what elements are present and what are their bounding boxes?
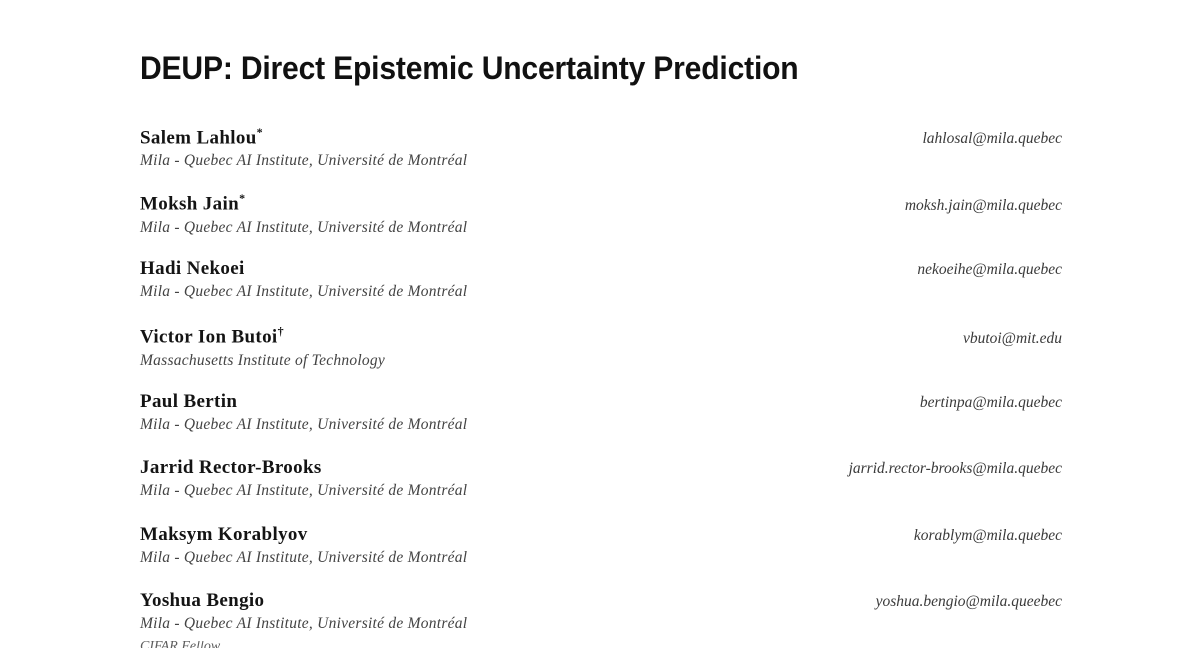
author-name-text: Maksym Korablyov xyxy=(140,524,308,545)
author-email[interactable]: lahlosal@mila.quebec xyxy=(922,130,1062,148)
author-row: Jarrid Rector-Brooksjarrid.rector-brooks… xyxy=(140,457,1062,479)
author-affiliation: Mila - Quebec AI Institute, Université d… xyxy=(140,416,1062,434)
author-block: Moksh Jain*moksh.jain@mila.quebecMila - … xyxy=(140,191,1062,258)
author-email[interactable]: nekoeihe@mila.quebec xyxy=(917,261,1062,279)
author-affiliation: Mila - Quebec AI Institute, Université d… xyxy=(140,152,1062,170)
author-footnote-marker: * xyxy=(257,125,263,139)
author-affiliation: Mila - Quebec AI Institute, Université d… xyxy=(140,283,1062,301)
author-email[interactable]: bertinpa@mila.quebec xyxy=(920,394,1062,412)
author-email[interactable]: jarrid.rector-brooks@mila.quebec xyxy=(849,460,1062,478)
paper-content: DEUP: Direct Epistemic Uncertainty Predi… xyxy=(140,0,1062,648)
author-row: Moksh Jain*moksh.jain@mila.quebec xyxy=(140,191,1062,215)
author-name-text: Salem Lahlou xyxy=(140,127,257,148)
author-footnote-marker: * xyxy=(239,191,245,205)
author-row: Victor Ion Butoi†vbutoi@mit.edu xyxy=(140,324,1062,348)
arxiv-vertical-stamp: [cs.LG] 3 Feb 2023 xyxy=(0,0,90,648)
author-name: Salem Lahlou* xyxy=(140,125,263,149)
author-block: Victor Ion Butoi†vbutoi@mit.eduMassachus… xyxy=(140,324,1062,391)
author-name: Yoshua Bengio xyxy=(140,590,264,612)
author-email[interactable]: vbutoi@mit.edu xyxy=(963,330,1062,348)
author-name: Jarrid Rector-Brooks xyxy=(140,457,322,479)
author-block: Salem Lahlou*lahlosal@mila.quebecMila - … xyxy=(140,125,1062,192)
author-email[interactable]: yoshua.bengio@mila.queebec xyxy=(876,593,1062,611)
author-affiliation: Massachusetts Institute of Technology xyxy=(140,352,1062,370)
author-name-text: Jarrid Rector-Brooks xyxy=(140,457,322,478)
author-name: Maksym Korablyov xyxy=(140,524,308,546)
author-name: Paul Bertin xyxy=(140,391,237,413)
paper-page: [cs.LG] 3 Feb 2023 DEUP: Direct Epistemi… xyxy=(0,0,1200,648)
author-affiliation: Mila - Quebec AI Institute, Université d… xyxy=(140,615,1062,633)
author-affiliation: Mila - Quebec AI Institute, Université d… xyxy=(140,549,1062,567)
author-email[interactable]: korablym@mila.quebec xyxy=(914,527,1062,545)
author-footnote-marker: † xyxy=(278,324,284,338)
author-block: Jarrid Rector-Brooksjarrid.rector-brooks… xyxy=(140,457,1062,524)
author-name-text: Paul Bertin xyxy=(140,391,237,412)
author-row: Salem Lahlou*lahlosal@mila.quebec xyxy=(140,125,1062,149)
author-row: Yoshua Bengioyoshua.bengio@mila.queebec xyxy=(140,590,1062,612)
author-block: Maksym Korablyovkorablym@mila.quebecMila… xyxy=(140,524,1062,591)
author-affiliation: Mila - Quebec AI Institute, Université d… xyxy=(140,482,1062,500)
author-row: Paul Bertinbertinpa@mila.quebec xyxy=(140,391,1062,413)
author-name: Victor Ion Butoi† xyxy=(140,324,284,348)
author-row: Maksym Korablyovkorablym@mila.quebec xyxy=(140,524,1062,546)
author-name-text: Hadi Nekoei xyxy=(140,258,245,279)
author-email[interactable]: moksh.jain@mila.quebec xyxy=(905,197,1062,215)
author-block: Yoshua Bengioyoshua.bengio@mila.queebecM… xyxy=(140,590,1062,648)
footnote-partial-line: CIFAR Fellow xyxy=(140,641,660,648)
page-title: DEUP: Direct Epistemic Uncertainty Predi… xyxy=(140,0,1007,87)
author-affiliation: Mila - Quebec AI Institute, Université d… xyxy=(140,219,1062,237)
author-name-text: Victor Ion Butoi xyxy=(140,327,278,348)
author-name-text: Moksh Jain xyxy=(140,194,239,215)
author-block: Hadi Nekoeinekoeihe@mila.quebecMila - Qu… xyxy=(140,258,1062,325)
author-name-text: Yoshua Bengio xyxy=(140,590,264,611)
author-block: Paul Bertinbertinpa@mila.quebecMila - Qu… xyxy=(140,391,1062,458)
author-name: Moksh Jain* xyxy=(140,191,245,215)
author-row: Hadi Nekoeinekoeihe@mila.quebec xyxy=(140,258,1062,280)
footnote-text: CIFAR Fellow xyxy=(140,641,660,648)
author-name: Hadi Nekoei xyxy=(140,258,245,280)
author-list: Salem Lahlou*lahlosal@mila.quebecMila - … xyxy=(140,125,1062,648)
